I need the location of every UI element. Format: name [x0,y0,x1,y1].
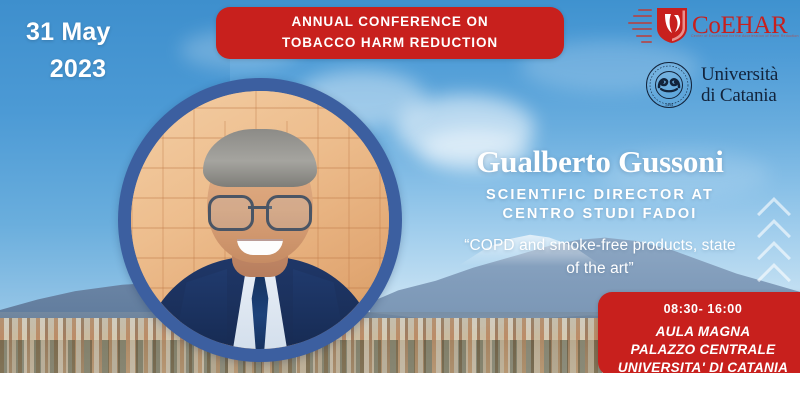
conference-poster: 31 May 2023 ANNUAL CONFERENCE ON TOBACCO… [0,0,800,400]
university-logo: 1434 Università di Catania [645,58,795,112]
speaker-portrait [131,91,389,349]
venue-info-box: 08:30- 16:00 AULA MAGNA PALAZZO CENTRALE… [598,292,800,376]
university-name-line-2: di Catania [701,85,778,106]
portrait-glasses [208,195,312,225]
coehar-tagline: Center of Excellence for the Acceleratio… [691,34,799,38]
event-date-year: 2023 [18,51,138,88]
glasses-lens-right [266,195,312,231]
speaker-role-line-2: CENTRO STUDI FADOI [410,205,790,225]
conference-title-line-2: TOBACCO HARM REDUCTION [282,33,498,54]
glasses-lens-left [208,195,254,231]
university-name-line-1: Università [701,64,778,85]
university-wordmark: Università di Catania [701,64,778,107]
venue-line-1: AULA MAGNA [598,323,800,341]
coehar-logo: CoEHAR Center of Excellence for the Acce… [628,4,793,46]
conference-title-banner: ANNUAL CONFERENCE ON TOBACCO HARM REDUCT… [216,7,564,59]
speaker-talk-line-1: “COPD and smoke-free products, state [410,234,790,257]
venue-line-2: PALAZZO CENTRALE [598,341,800,359]
speaker-name: Gualberto Gussoni [410,146,790,179]
chevron-decoration [762,200,796,300]
event-date-day-month: 31 May [18,14,138,51]
speaker-role: SCIENTIFIC DIRECTOR AT CENTRO STUDI FADO… [410,186,790,225]
speaker-talk-title: “COPD and smoke-free products, state of … [410,234,790,281]
svg-text:1434: 1434 [665,102,673,107]
coehar-bars-icon [628,7,652,43]
speaker-details: Gualberto Gussoni SCIENTIFIC DIRECTOR AT… [410,146,790,280]
bottom-white-strip [0,373,800,400]
speaker-portrait-ring [118,78,402,362]
speaker-role-line-1: SCIENTIFIC DIRECTOR AT [410,186,790,206]
conference-title-line-1: ANNUAL CONFERENCE ON [291,12,488,33]
speaker-talk-line-2: of the art” [410,257,790,280]
coehar-shield-icon [656,6,688,44]
event-location: AULA MAGNA PALAZZO CENTRALE UNIVERSITA' … [598,323,800,376]
event-time: 08:30- 16:00 [598,302,800,316]
university-seal-icon: 1434 [645,61,693,109]
event-date: 31 May 2023 [18,14,138,88]
